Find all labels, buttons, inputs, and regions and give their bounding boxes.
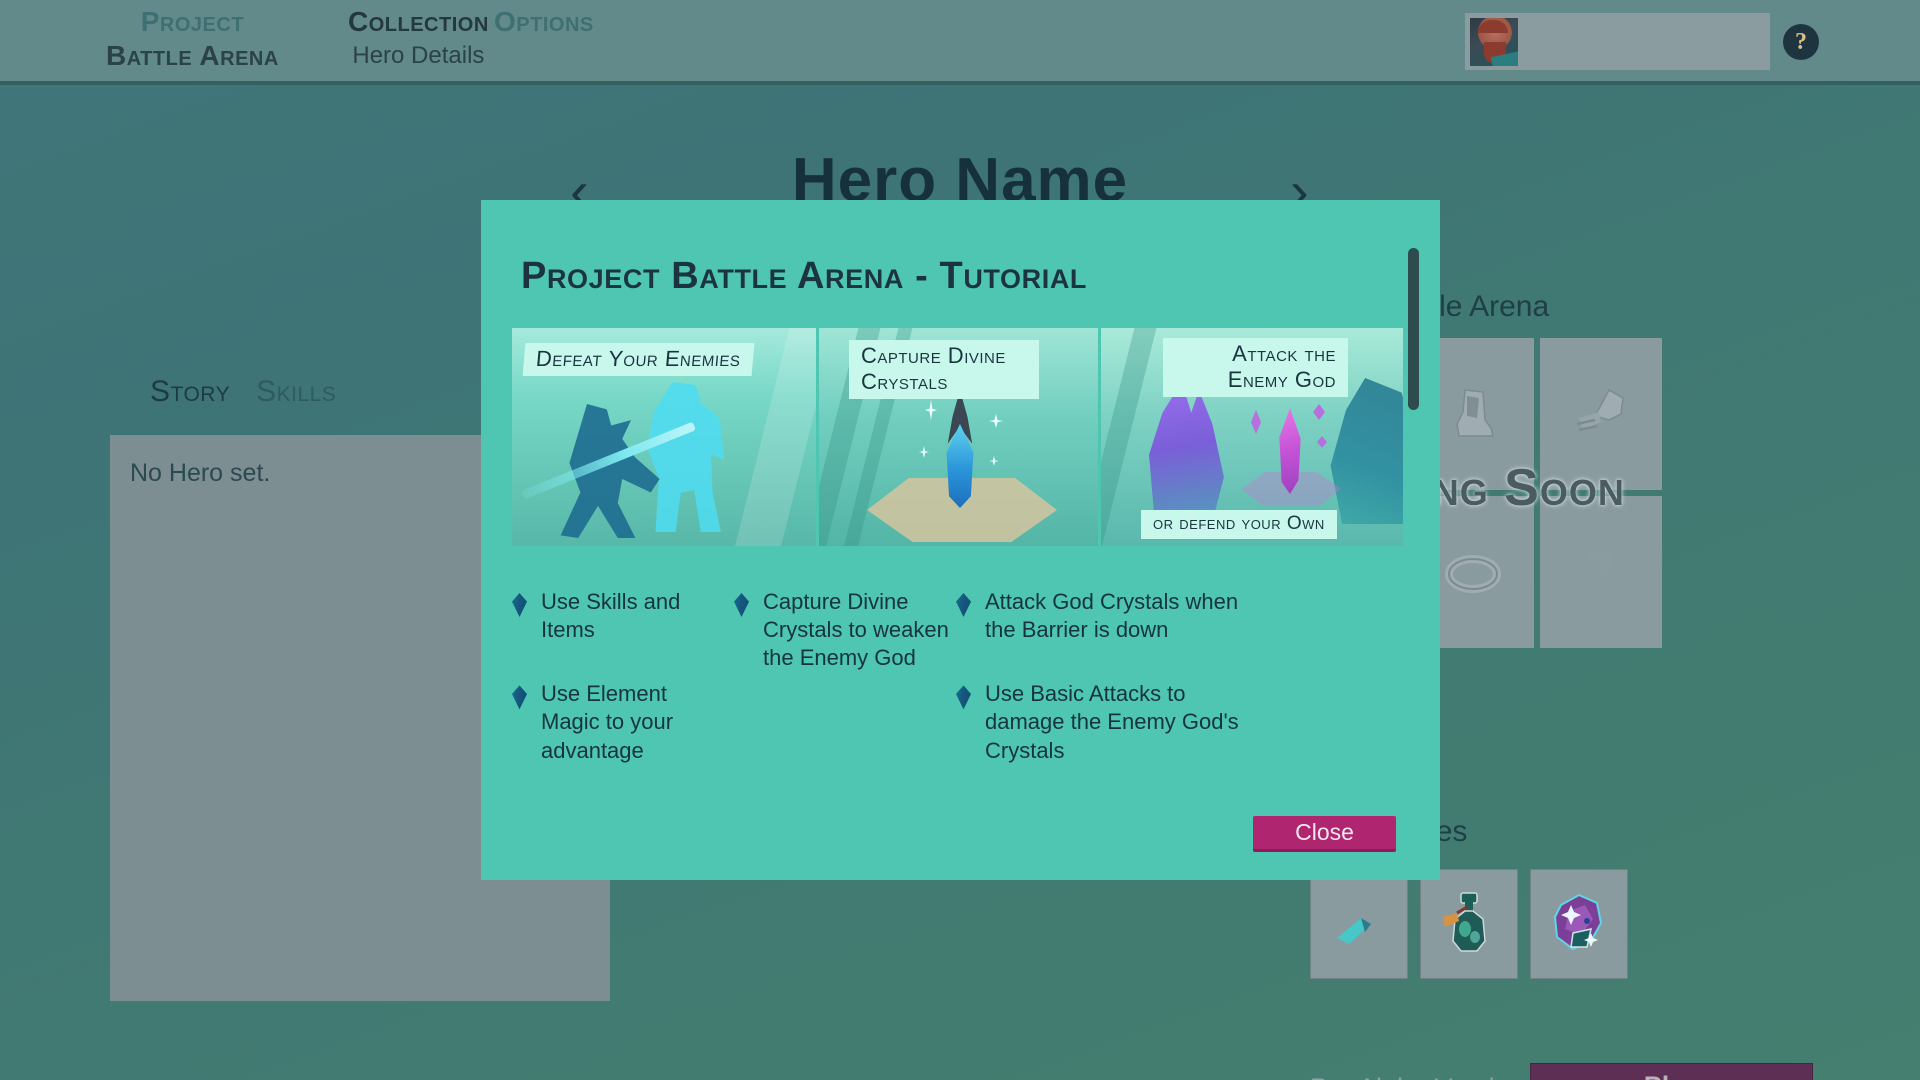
- shard-icon: [1251, 410, 1261, 434]
- bullet-text: Use Element Magic to your advantage: [541, 680, 727, 764]
- purple-rock-shape: [1149, 382, 1245, 522]
- tutorial-bullet-lists: Use Skills and Items Use Element Magic t…: [512, 588, 1402, 801]
- diamond-bullet-icon: [512, 593, 527, 617]
- tutorial-dialog: Project Battle Arena - Tutorial Defeat Y…: [481, 200, 1440, 880]
- dialog-scrollbar[interactable]: [1408, 248, 1419, 832]
- panel-2-caption: Capture Divine Crystals: [849, 340, 1039, 399]
- dialog-title: Project Battle Arena - Tutorial: [521, 255, 1087, 298]
- sparkle-icon: [925, 400, 937, 420]
- shard-icon: [1313, 404, 1325, 420]
- teal-rock-shape: [1321, 378, 1403, 524]
- diamond-bullet-icon: [512, 685, 527, 709]
- game-window: Hero Name ‹ › Story Skills No Hero set. …: [0, 0, 1920, 1080]
- bullet-column-1: Use Skills and Items Use Element Magic t…: [512, 588, 727, 801]
- tutorial-panel-1: Defeat Your Enemies: [512, 328, 816, 546]
- bullet-text: Use Basic Attacks to damage the Enemy Go…: [985, 680, 1256, 764]
- list-item: Use Element Magic to your advantage: [512, 680, 727, 764]
- close-button[interactable]: Close: [1253, 816, 1396, 852]
- list-item: Attack God Crystals when the Barrier is …: [956, 588, 1256, 644]
- tutorial-panel-3: Attack the Enemy God or defend your Own: [1101, 328, 1403, 546]
- panel-1-caption: Defeat Your Enemies: [523, 343, 755, 376]
- tutorial-panel-2: Capture Divine Crystals: [819, 328, 1098, 546]
- sparkle-icon: [989, 456, 999, 466]
- list-item: Use Skills and Items: [512, 588, 727, 644]
- diamond-bullet-icon: [956, 685, 971, 709]
- shard-icon: [1317, 436, 1327, 448]
- enemy-silhouette: [642, 382, 726, 532]
- tutorial-panels: Defeat Your Enemies Capture Divine Cryst…: [512, 328, 1403, 546]
- bullet-text: Use Skills and Items: [541, 588, 727, 644]
- list-item: Use Basic Attacks to damage the Enemy Go…: [956, 680, 1256, 764]
- panel-3-caption-bottom: or defend your Own: [1141, 510, 1337, 539]
- diamond-bullet-icon: [956, 593, 971, 617]
- bullet-column-3: Attack God Crystals when the Barrier is …: [956, 588, 1256, 801]
- bullet-text: Attack God Crystals when the Barrier is …: [985, 588, 1256, 644]
- list-item: Capture Divine Crystals to weaken the En…: [734, 588, 949, 672]
- scrollbar-thumb[interactable]: [1408, 248, 1419, 410]
- sparkle-icon: [919, 446, 929, 458]
- bullet-column-2: Capture Divine Crystals to weaken the En…: [734, 588, 949, 801]
- panel-3-caption: Attack the Enemy God: [1163, 338, 1348, 397]
- modal-overlay: Project Battle Arena - Tutorial Defeat Y…: [0, 0, 1920, 1080]
- diamond-bullet-icon: [734, 593, 749, 617]
- bullet-text: Capture Divine Crystals to weaken the En…: [763, 588, 949, 672]
- sparkle-icon: [989, 414, 1003, 428]
